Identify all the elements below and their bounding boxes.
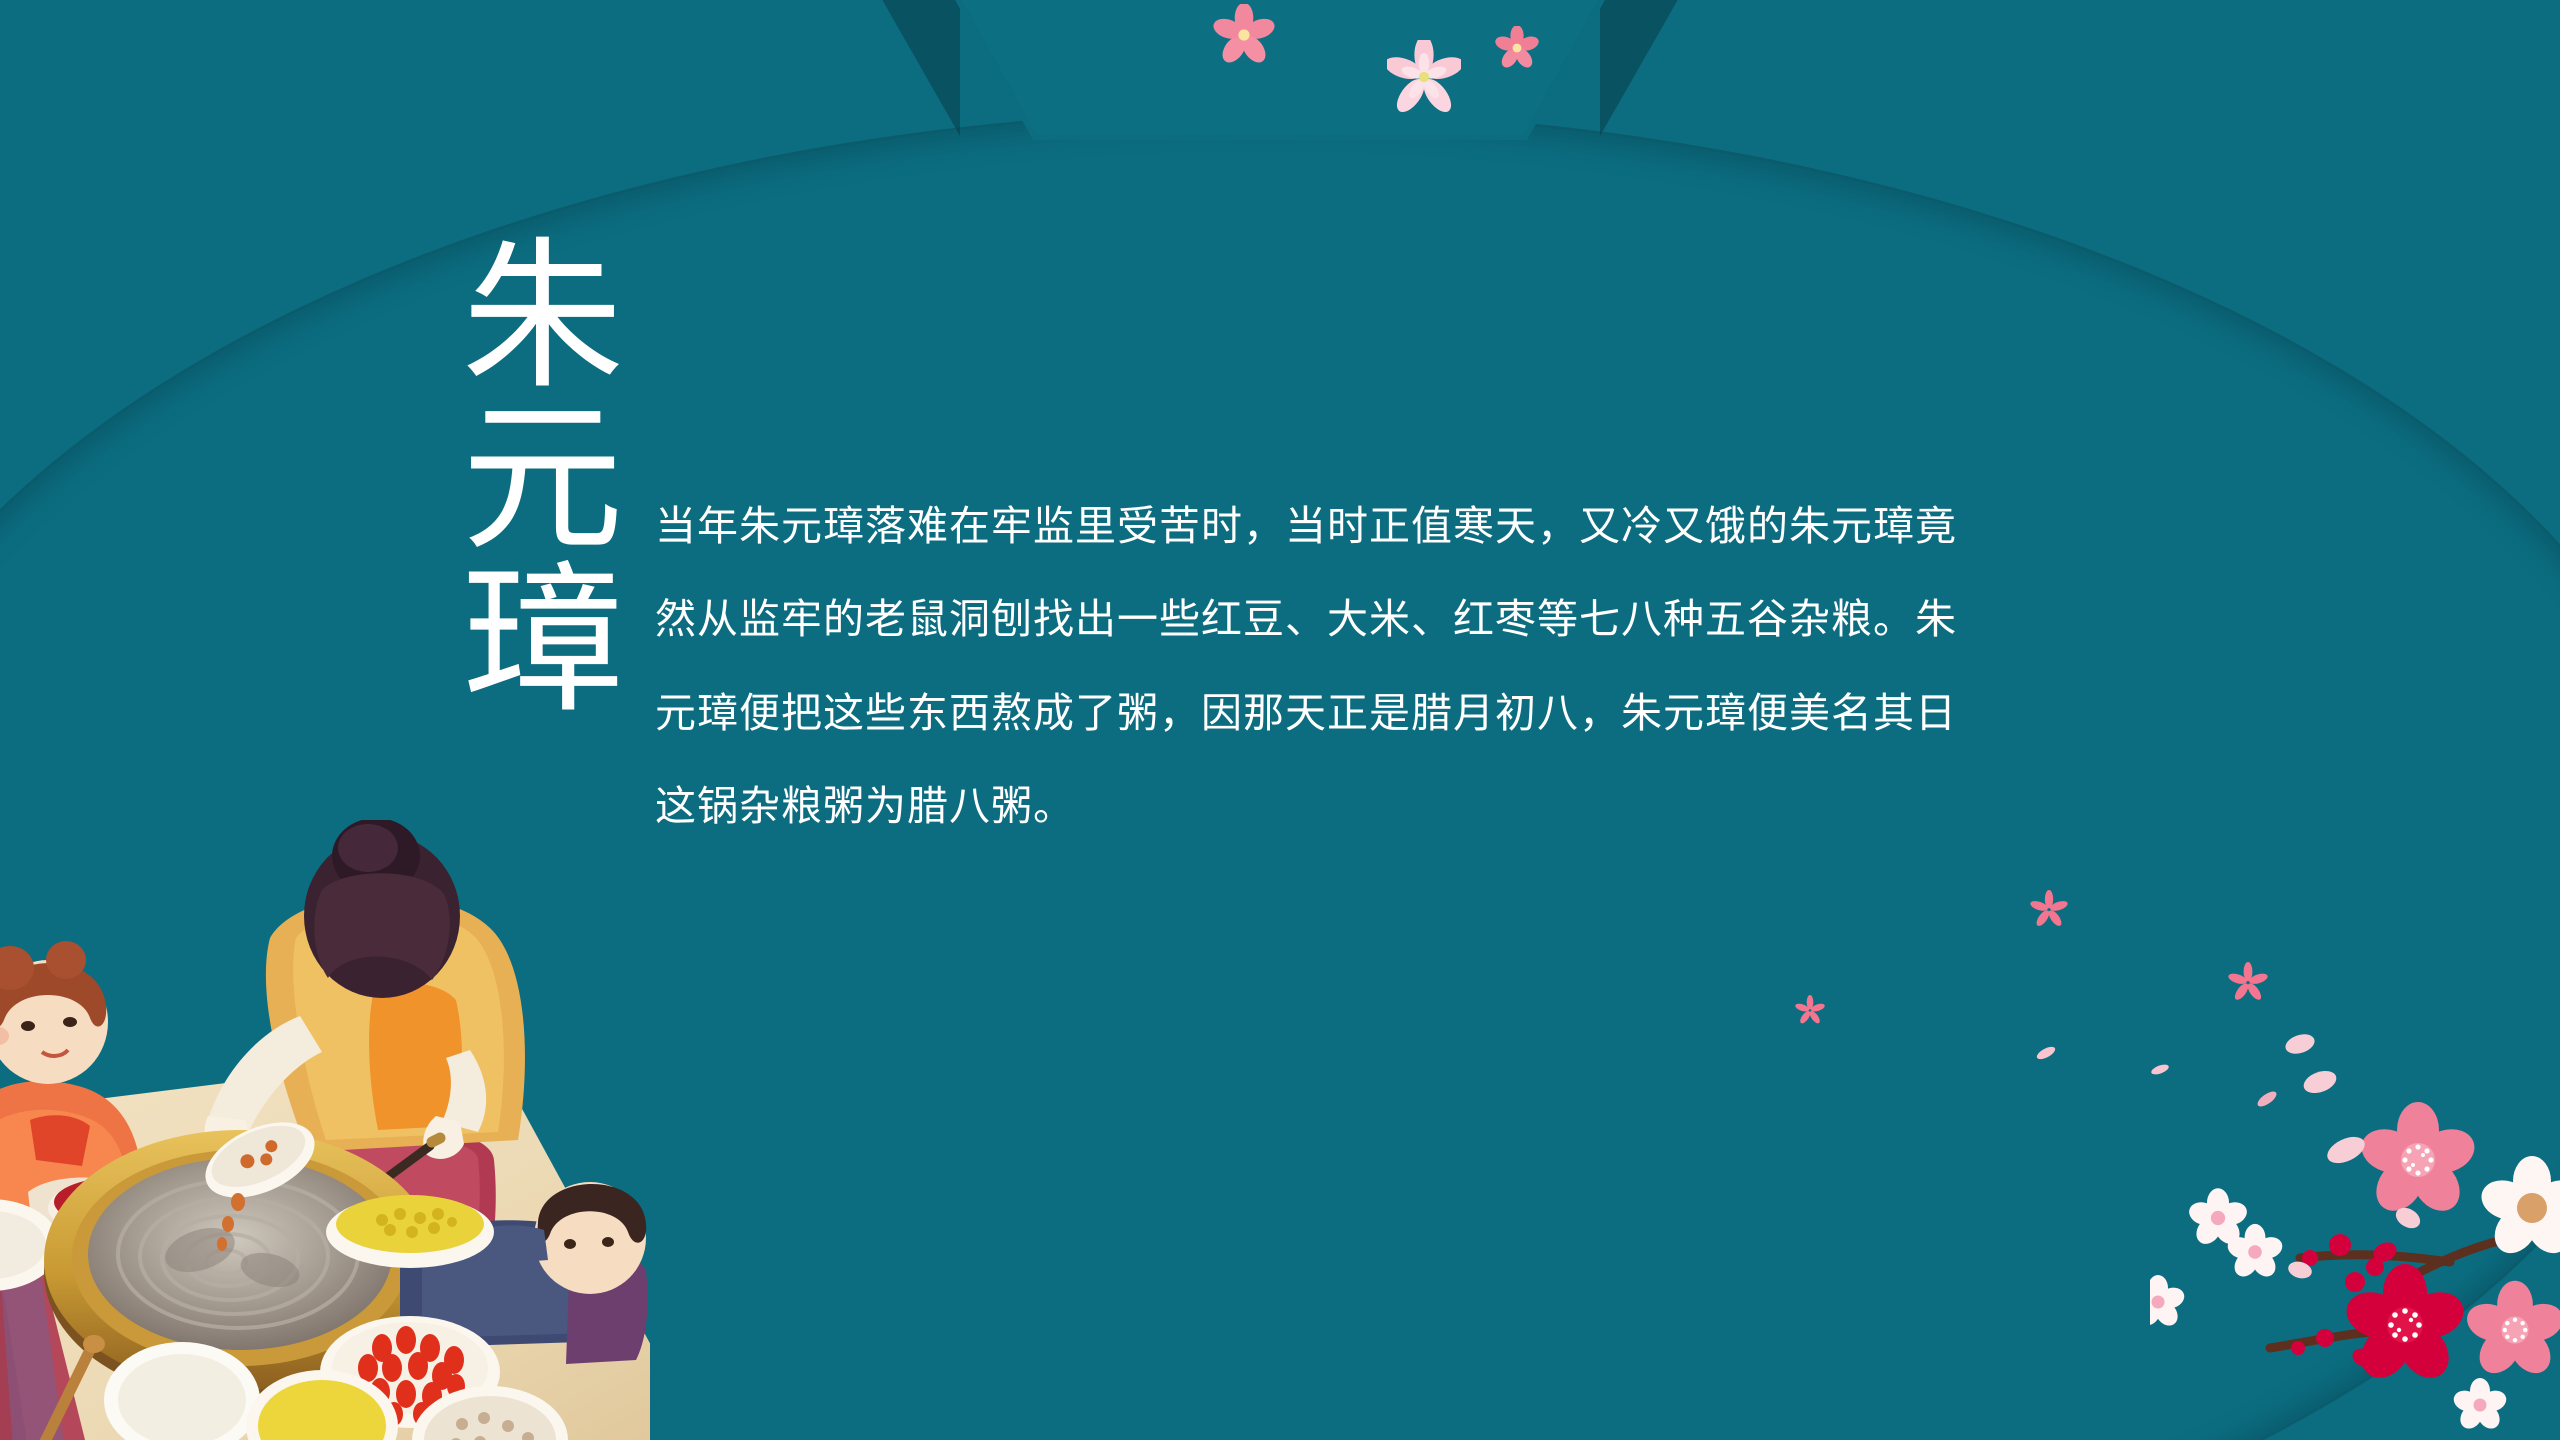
legend-body-text: 当年朱元璋落难在牢监里受苦时，当时正值寒天，又冷又饿的朱元璋竟 然从监牢的老鼠洞…	[655, 480, 2255, 854]
petal-pink-3-icon	[2228, 962, 2268, 1002]
badge-right-bevel	[1600, 0, 1680, 136]
plum-flower-pink-large	[2356, 1102, 2480, 1220]
plum-flower-white-small-2	[2225, 1224, 2285, 1281]
plum-flower-pink-medium	[2462, 1281, 2560, 1381]
body-line-3: 元璋便把这些东西熬成了粥，因那天正是腊月初八，朱元璋便美名其日	[655, 667, 2255, 760]
body-line-2: 然从监牢的老鼠洞刨找出一些红豆、大米、红枣等七八种五谷杂粮。朱	[655, 573, 2255, 666]
plum-drifting-petals	[2283, 1031, 2424, 1281]
petal-small-1-icon	[2035, 1045, 2057, 1061]
plum-flower-white-small-4	[2451, 1378, 2509, 1433]
plum-flower-red-large	[2341, 1264, 2470, 1387]
petal-small-2-icon	[2150, 1062, 2170, 1077]
plum-flower-white-large	[2476, 1156, 2560, 1261]
plum-blossom-branch-icon	[2150, 1030, 2560, 1440]
slide-root: 腊八节传说	[0, 0, 2560, 1440]
plum-flower-white-small-3	[2150, 1275, 2187, 1330]
plum-flower-white-small-1	[2186, 1188, 2250, 1248]
badge-left-bevel	[880, 0, 960, 136]
petal-pink-1-icon	[2030, 890, 2068, 928]
laba-porridge-illustration	[0, 820, 650, 1440]
body-line-4: 这锅杂粮粥为腊八粥。	[655, 760, 2255, 853]
body-line-1: 当年朱元璋落难在牢监里受苦时，当时正值寒天，又冷又饿的朱元璋竟	[655, 480, 2255, 573]
sakura-salmon-right-icon	[1495, 26, 1539, 70]
header-container: 腊八节传说	[955, 0, 1605, 140]
vertical-name-title: 朱元璋	[415, 230, 605, 750]
petal-pink-2-icon	[1795, 995, 1825, 1025]
sakura-pink-top-icon	[1213, 4, 1275, 66]
sakura-lightpink-bottom-icon	[1387, 40, 1461, 114]
petal-small-3-icon	[2255, 1090, 2279, 1108]
